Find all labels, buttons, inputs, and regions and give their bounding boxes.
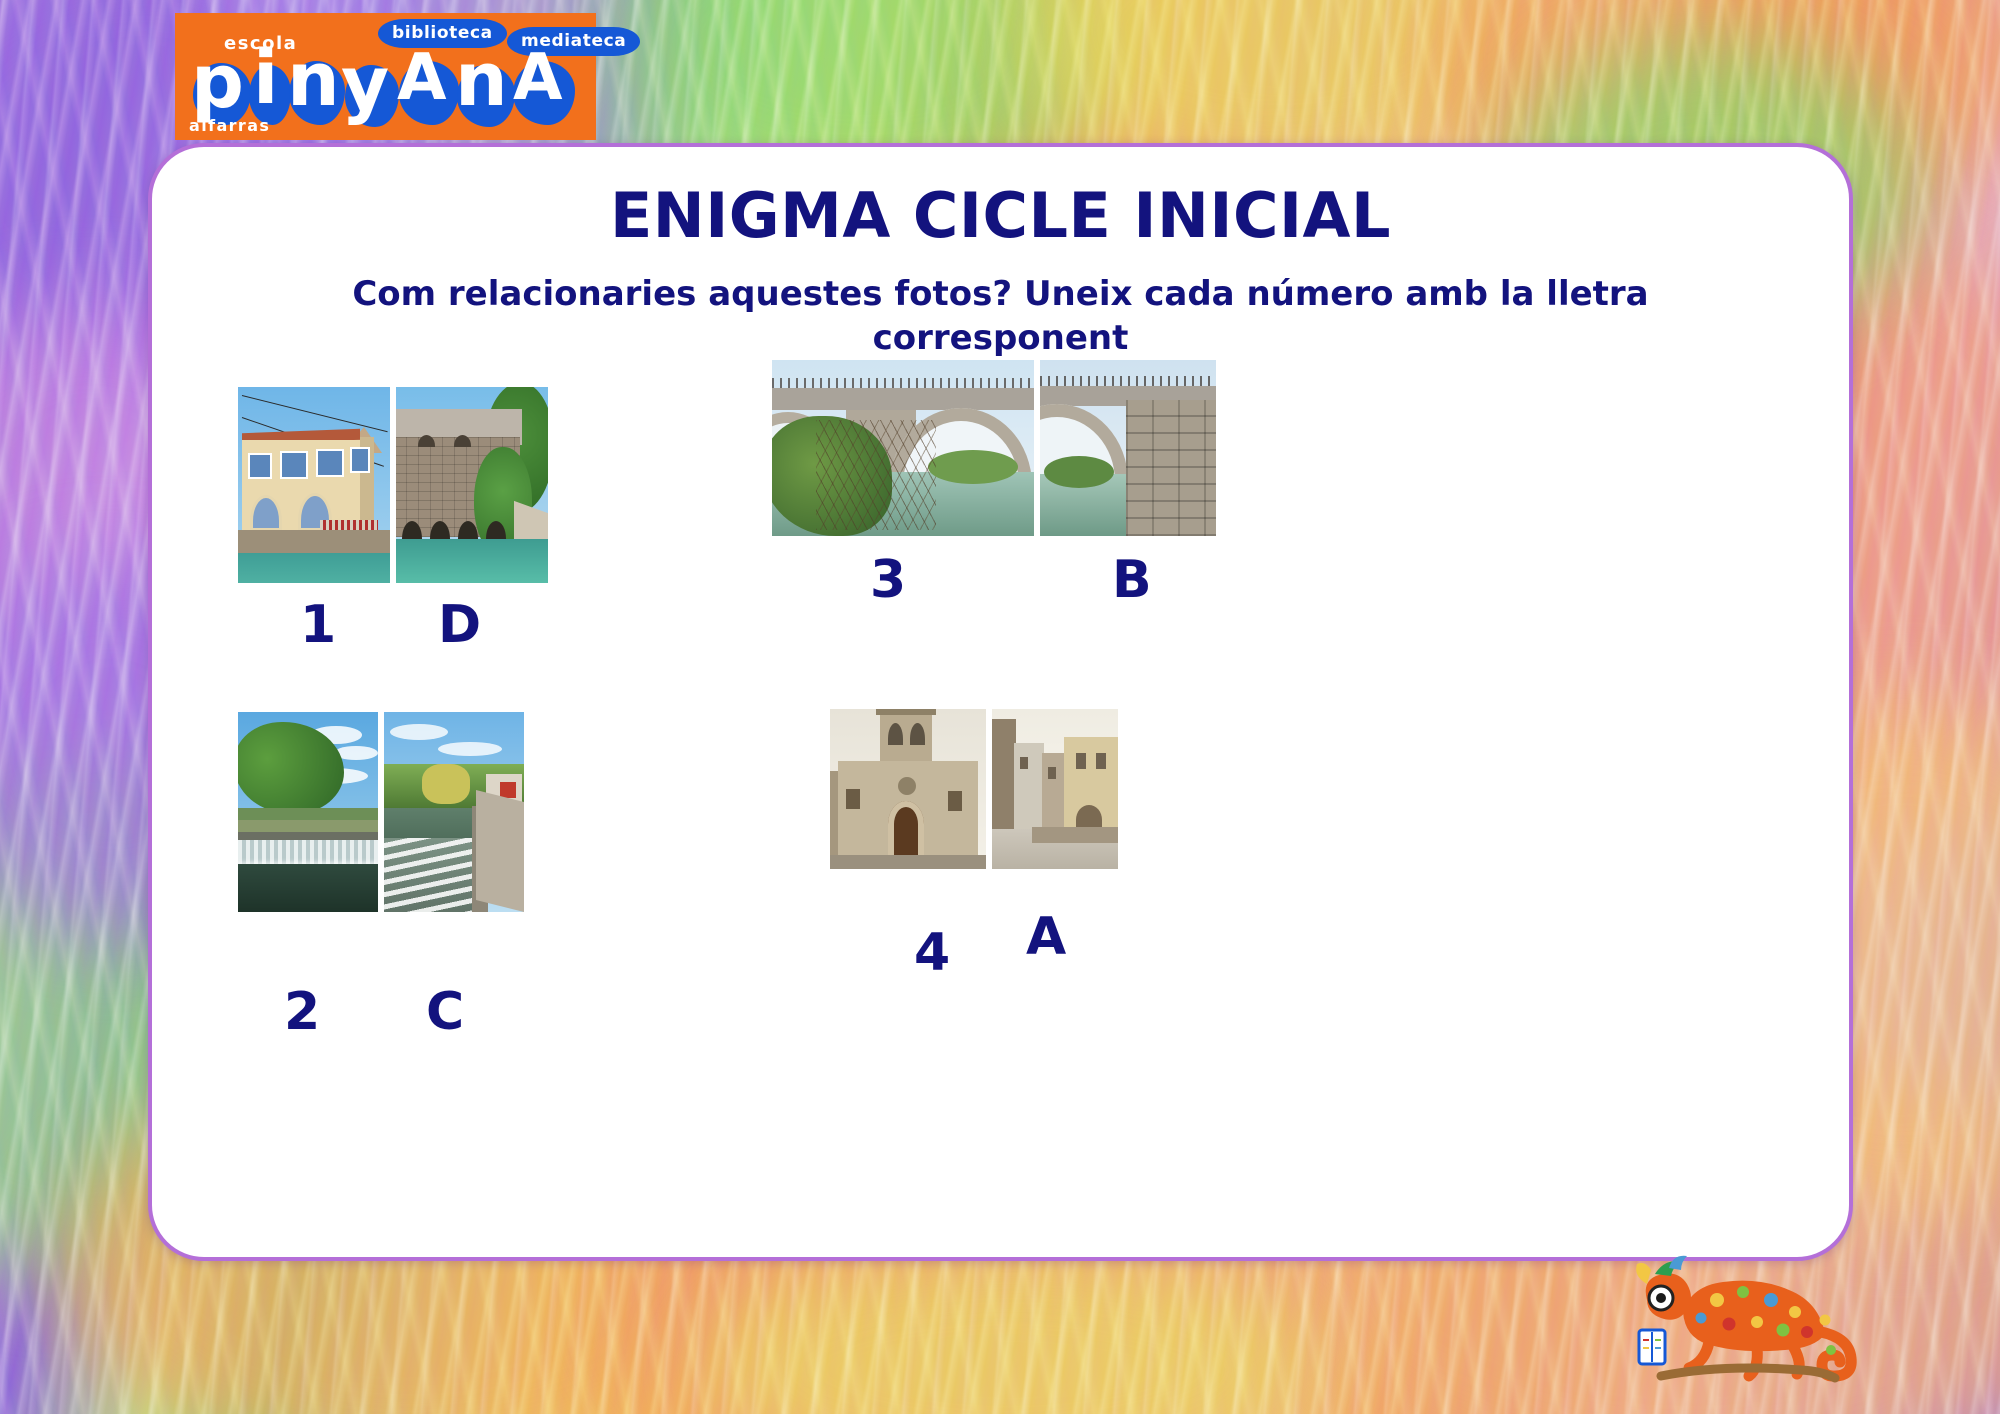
photo-village-square-street[interactable]: [992, 709, 1118, 869]
photo-pair-3-labels: 3 B: [772, 536, 1222, 610]
photo-pair-1-labels: 1 D: [238, 583, 558, 657]
pair-1-number[interactable]: 1: [300, 599, 336, 651]
logo-alfarras-label: alfarras: [189, 116, 270, 135]
photo-stone-bridge-arch-over-river[interactable]: [772, 360, 1034, 536]
slide-canvas: ENIGMA CICLE INICIAL Com relacionaries a…: [0, 0, 2000, 1414]
photo-pair-4-labels: 4 A: [830, 869, 1130, 943]
chameleon-mascot: [1625, 1246, 1875, 1396]
content-card: ENIGMA CICLE INICIAL Com relacionaries a…: [148, 143, 1853, 1261]
pair-4-letter[interactable]: A: [1026, 911, 1066, 963]
photo-modernist-building-over-canal[interactable]: [238, 387, 390, 583]
photo-pair-4-images: [830, 709, 1130, 869]
pair-2-letter[interactable]: C: [426, 986, 464, 1038]
pair-1-letter[interactable]: D: [438, 599, 481, 651]
photo-pair-1-images: [238, 387, 558, 583]
photo-stone-bridge-masonry-close-up[interactable]: [1040, 360, 1216, 536]
photo-church-facade-bell-gable[interactable]: [830, 709, 986, 869]
page-title: ENIGMA CICLE INICIAL: [152, 179, 1849, 252]
chameleon-icon: [1625, 1246, 1875, 1396]
school-library-logo[interactable]: escola biblioteca mediateca p i n y A n …: [175, 13, 596, 140]
pair-4-number[interactable]: 4: [914, 927, 950, 979]
photo-pair-2[interactable]: 2 C: [238, 712, 558, 986]
photo-canal-rapids-walkway[interactable]: [384, 712, 524, 912]
photo-pair-3[interactable]: 3 B: [772, 360, 1222, 610]
photo-ruined-stone-mill-arches[interactable]: [396, 387, 548, 583]
photo-pair-2-images: [238, 712, 558, 912]
pair-2-number[interactable]: 2: [284, 986, 320, 1038]
photo-pair-3-images: [772, 360, 1222, 536]
photo-pair-2-labels: 2 C: [238, 912, 558, 986]
photo-canal-weir-waterfall[interactable]: [238, 712, 378, 912]
instruction-text: Com relacionaries aquestes fotos? Uneix …: [262, 272, 1739, 360]
pair-3-number[interactable]: 3: [870, 554, 906, 606]
photo-pair-4[interactable]: 4 A: [830, 709, 1130, 943]
photo-pair-1[interactable]: 1 D: [238, 387, 558, 657]
pair-3-letter[interactable]: B: [1112, 554, 1152, 606]
